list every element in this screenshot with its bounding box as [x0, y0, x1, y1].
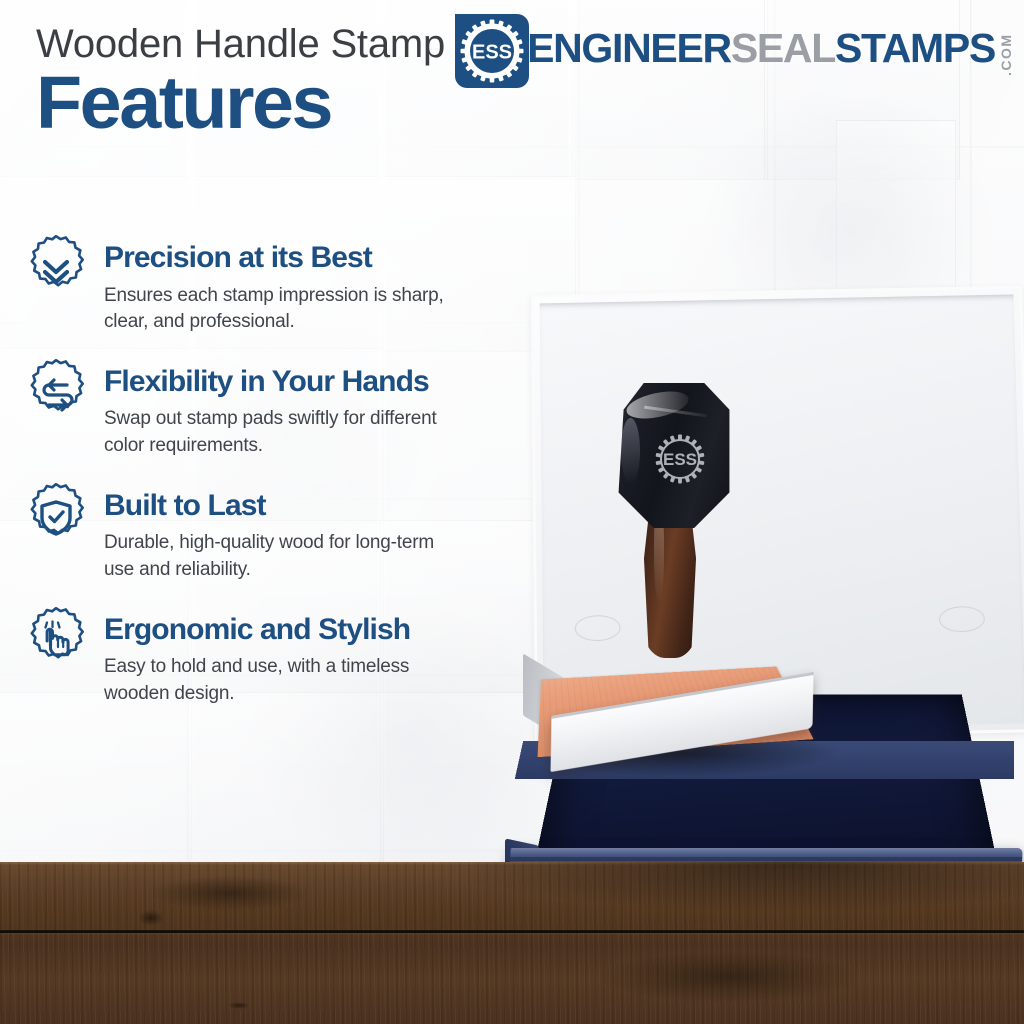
- page-title: Features: [36, 68, 453, 138]
- feature-title: Precision at its Best: [104, 242, 444, 274]
- wood-knot: [138, 910, 164, 926]
- feature-desc-line: use and reliability.: [104, 557, 434, 583]
- features-list: Precision at its Best Ensures each stamp…: [20, 236, 580, 732]
- tapping-hand-badge-icon: [20, 604, 92, 676]
- feature-description: Durable, high-quality wood for long-term…: [104, 530, 434, 582]
- wordmark-engineer: ENGINEER: [527, 26, 731, 70]
- box-front-lip: [510, 857, 1022, 861]
- handle-logo-text: ESS: [663, 450, 697, 469]
- feature-title: Flexibility in Your Hands: [104, 366, 437, 398]
- feature-title: Ergonomic and Stylish: [104, 614, 410, 646]
- swap-arrows-badge-icon: [20, 356, 92, 428]
- stamp-black-handle-knob: ESS: [611, 380, 737, 528]
- brand-logo[interactable]: ESS ENGINEER SEAL STAMPS .COM: [455, 14, 1014, 88]
- double-chevron-down-badge-icon: [20, 232, 92, 304]
- feature-item: Flexibility in Your Hands Swap out stamp…: [20, 360, 580, 459]
- wood-floor: [0, 862, 1024, 1024]
- feature-item: Built to Last Durable, high-quality wood…: [20, 484, 580, 583]
- brand-wordmark: ENGINEER SEAL STAMPS .COM: [527, 26, 1014, 76]
- badge-text: ESS: [472, 42, 512, 64]
- feature-item: Precision at its Best Ensures each stamp…: [20, 236, 580, 335]
- wood-dark-patch: [150, 876, 310, 910]
- feature-item: Ergonomic and Stylish Easy to hold and u…: [20, 608, 580, 707]
- infographic-canvas: Wooden Handle Stamp Features: [0, 0, 1024, 1024]
- feature-description: Easy to hold and use, with a timeless wo…: [104, 654, 410, 706]
- knob-side-highlight: [621, 418, 640, 483]
- wood-dark-patch: [600, 952, 860, 1002]
- feature-desc-line: clear, and professional.: [104, 309, 444, 335]
- feature-desc-line: wooden design.: [104, 681, 410, 707]
- feature-desc-line: Easy to hold and use, with a timeless: [104, 654, 410, 680]
- feature-text: Ergonomic and Stylish Easy to hold and u…: [104, 608, 410, 707]
- shield-check-badge-icon: [20, 480, 92, 552]
- wordmark-tld: .COM: [998, 30, 1014, 76]
- feature-desc-line: color requirements.: [104, 433, 437, 459]
- feature-desc-line: Swap out stamp pads swiftly for differen…: [104, 406, 437, 432]
- feature-title: Built to Last: [104, 490, 434, 522]
- wood-knot: [228, 1002, 250, 1009]
- box-cast-shadow: [430, 862, 1024, 912]
- handle-ess-gear-icon: ESS: [649, 428, 711, 490]
- feature-text: Precision at its Best Ensures each stamp…: [104, 236, 444, 335]
- feature-desc-line: Durable, high-quality wood for long-term: [104, 530, 434, 556]
- feature-desc-line: Ensures each stamp impression is sharp,: [104, 283, 444, 309]
- feature-text: Built to Last Durable, high-quality wood…: [104, 484, 434, 583]
- ess-gear-badge-icon: ESS: [455, 14, 529, 88]
- wordmark-seal: SEAL: [731, 26, 835, 70]
- feature-description: Ensures each stamp impression is sharp, …: [104, 283, 444, 335]
- feature-description: Swap out stamp pads swiftly for differen…: [104, 406, 437, 458]
- rubber-stamp: ESS: [523, 498, 883, 828]
- header: Wooden Handle Stamp Features: [36, 22, 445, 138]
- feature-text: Flexibility in Your Hands Swap out stamp…: [104, 360, 437, 459]
- page-kicker: Wooden Handle Stamp: [36, 22, 445, 66]
- wordmark-stamps: STAMPS: [835, 26, 995, 70]
- plank-seam: [0, 930, 1024, 933]
